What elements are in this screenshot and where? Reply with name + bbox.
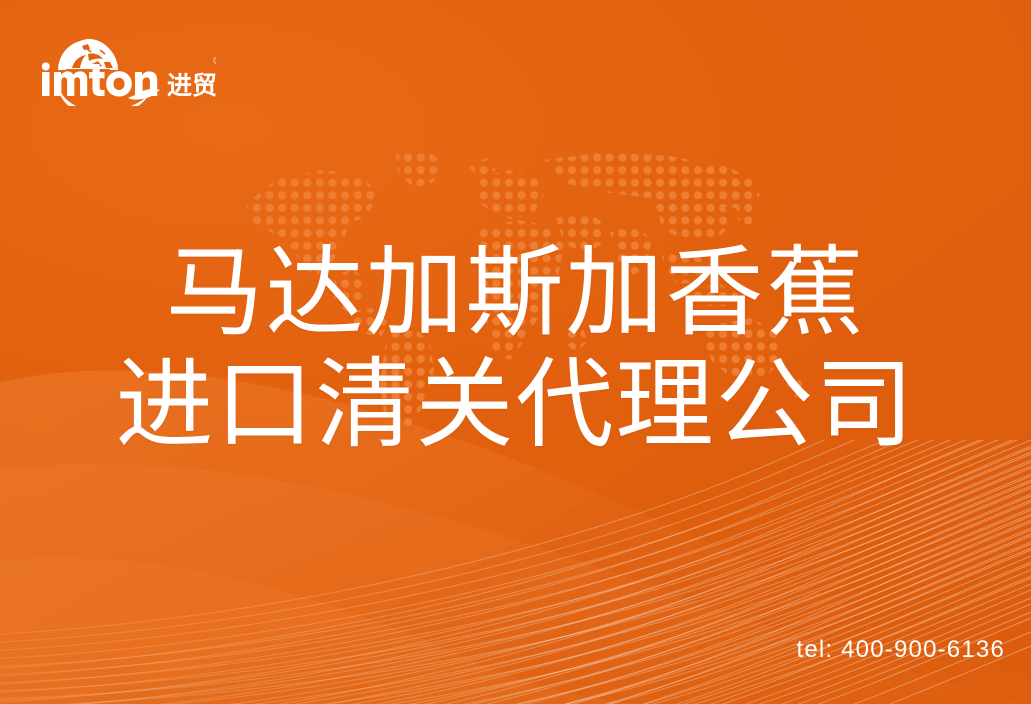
telephone-number[interactable]: tel: 400-900-6136 — [796, 636, 1005, 664]
page-title: 马达加斯加香蕉 进口清关代理公司 — [0, 236, 1031, 460]
logo-trademark-symbol: ® — [212, 54, 216, 67]
logo-chinese-name: 进贸通 — [167, 71, 216, 100]
company-logo[interactable]: 进贸通 ® — [36, 28, 216, 106]
promo-banner: 进贸通 ® 马达加斯加香蕉 进口清关代理公司 tel: 400-900-6136 — [0, 0, 1031, 704]
page-title-line-2: 进口清关代理公司 — [0, 348, 1031, 460]
globe-arc-icon — [58, 39, 118, 70]
thin-curve-lines — [0, 440, 1031, 704]
page-title-line-1: 马达加斯加香蕉 — [0, 236, 1031, 348]
